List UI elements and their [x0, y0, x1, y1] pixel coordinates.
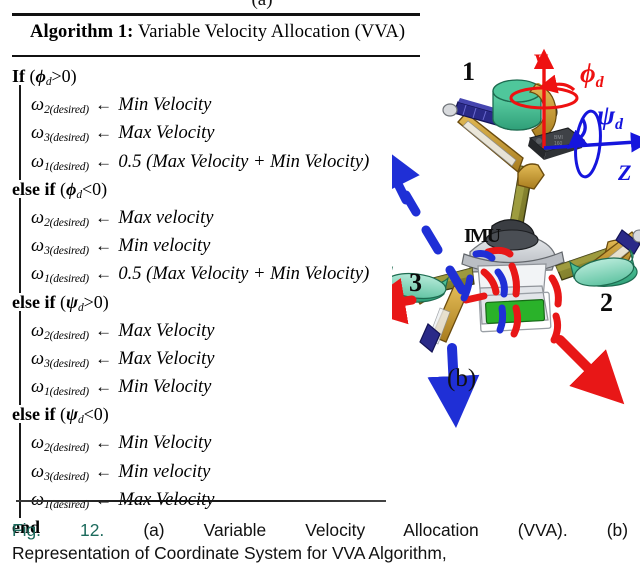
algorithm-keyword: else if [12, 404, 55, 424]
algorithm-statement: ω1(desired) ← Min Velocity [31, 377, 211, 397]
algorithm-assignment: Min velocity [118, 462, 210, 482]
algorithm-keyword: else if [12, 292, 55, 312]
algorithm-statement-line: ω3(desired) ← Max Velocity [12, 118, 432, 146]
psi-subscript: d [615, 116, 623, 133]
algorithm-statement-line: ω2(desired) ← Max velocity [12, 203, 432, 231]
algorithm-statement: ω3(desired) ← Max Velocity [31, 349, 214, 369]
algorithm-statement-line: ω2(desired) ← Min Velocity [12, 90, 432, 118]
algorithm-statement-line: ω3(desired) ← Max Velocity [12, 344, 432, 372]
algorithm-statement-line: ω1(desired) ← 0.5 (Max Velocity + Min Ve… [12, 259, 432, 287]
z-axis-label: Z [618, 160, 631, 186]
algorithm-condition: (ψd<0) [55, 404, 108, 424]
figure-number: Fig. 12. [12, 520, 104, 540]
algorithm-keyword: If [12, 66, 25, 86]
algorithm-statement: ω3(desired) ← Max Velocity [31, 123, 214, 143]
phi-d-label: ϕd [580, 58, 604, 92]
algorithm-bottom-rule [16, 500, 386, 502]
blue-dashed-arrow-head [394, 176, 406, 200]
algorithm-assignment: Min velocity [118, 236, 210, 256]
algorithm-statement-line: ω1(desired) ← Max Velocity [12, 485, 432, 513]
algorithm-condition-line: If (ϕd>0) [12, 62, 432, 90]
algorithm-condition: (ϕd>0) [25, 66, 77, 86]
psi-d-label: ψd [597, 100, 623, 134]
algorithm-statement: ω1(desired) ← 0.5 (Max Velocity + Min Ve… [31, 152, 369, 172]
algorithm-body: If (ϕd>0)ω2(desired) ← Min Velocityω3(de… [12, 62, 432, 541]
caption-line-1-text: (a) Variable Velocity Allocation (VVA). … [143, 520, 628, 540]
algorithm-assignment: 0.5 (Max Velocity + Min Velocity) [118, 152, 369, 172]
algorithm-assignment: 0.5 (Max Velocity + Min Velocity) [118, 264, 369, 284]
subfigure-b-marker: (b) [447, 365, 476, 393]
algorithm-assignment: Min Velocity [118, 377, 211, 397]
algorithm-assignment: Max velocity [118, 208, 213, 228]
algorithm-statement: ω1(desired) ← 0.5 (Max Velocity + Min Ve… [31, 264, 369, 284]
algorithm-title-text: Variable Velocity Allocation (VVA) [133, 22, 405, 42]
algorithm-statement-line: ω2(desired) ← Min Velocity [12, 428, 432, 456]
algorithm-assignment: Max Velocity [118, 321, 214, 341]
figure-page: (a) Algorithm 1: Variable Velocity Alloc… [0, 0, 640, 567]
red-motion-arrow-left [394, 300, 412, 303]
algorithm-statement-line: ω1(desired) ← Min Velocity [12, 372, 432, 400]
algorithm-assignment: Max Velocity [118, 349, 214, 369]
algorithm-condition: (ϕd<0) [55, 179, 107, 199]
subfigure-a-marker: (a) [232, 0, 292, 11]
algorithm-condition: (ψd>0) [55, 292, 108, 312]
algorithm-condition-line: else if (ψd<0) [12, 400, 432, 428]
algorithm-title-label: Algorithm 1: [30, 22, 133, 42]
caption-line-1: Fig. 12. (a) Variable Velocity Allocatio… [12, 519, 628, 542]
algorithm-statement: ω2(desired) ← Min Velocity [31, 433, 211, 453]
algorithm-statement-line: ω3(desired) ← Min velocity [12, 231, 432, 259]
subfigure-b-illustration: BMI 160 1 2 3 IMU Y Z ϕd ψd (b) [392, 40, 640, 440]
psi-symbol: ψ [597, 100, 615, 130]
algorithm-statement: ω2(desired) ← Max velocity [31, 208, 213, 228]
algorithm-statement: ω2(desired) ← Min Velocity [31, 95, 211, 115]
algorithm-condition-line: else if (ψd>0) [12, 288, 432, 316]
caption-line-2: Representation of Coordinate System for … [12, 542, 628, 565]
algorithm-statement-line: ω2(desired) ← Max Velocity [12, 316, 432, 344]
algorithm-statement: ω3(desired) ← Min velocity [31, 236, 210, 256]
imu-label: IMU [464, 225, 499, 248]
phi-symbol: ϕ [580, 58, 596, 88]
algorithm-statement: ω2(desired) ← Max Velocity [31, 321, 214, 341]
algorithm-top-rule [12, 13, 420, 16]
algorithm-title-rule [12, 55, 420, 57]
arm-label-1: 1 [462, 57, 475, 87]
algorithm-condition-line: else if (ϕd<0) [12, 175, 432, 203]
y-axis-label: Y [533, 49, 546, 75]
phi-subscript: d [596, 74, 604, 91]
algorithm-keyword: else if [12, 179, 55, 199]
algorithm-statement-line: ω3(desired) ← Min velocity [12, 457, 432, 485]
robot-arm-2 [556, 230, 640, 290]
algorithm-title: Algorithm 1: Variable Velocity Allocatio… [30, 22, 405, 43]
algorithm-statement: ω3(desired) ← Min velocity [31, 462, 210, 482]
algorithm-statement-line: ω1(desired) ← 0.5 (Max Velocity + Min Ve… [12, 147, 432, 175]
figure-caption: Fig. 12. (a) Variable Velocity Allocatio… [12, 519, 628, 565]
red-motion-arrow [560, 340, 596, 376]
robot-arm-3 [392, 268, 474, 352]
arm-label-3: 3 [409, 268, 422, 298]
algorithm-assignment: Min Velocity [118, 433, 211, 453]
arm-label-2: 2 [600, 288, 613, 318]
algorithm-assignment: Max Velocity [118, 123, 214, 143]
algorithm-assignment: Min Velocity [118, 95, 211, 115]
